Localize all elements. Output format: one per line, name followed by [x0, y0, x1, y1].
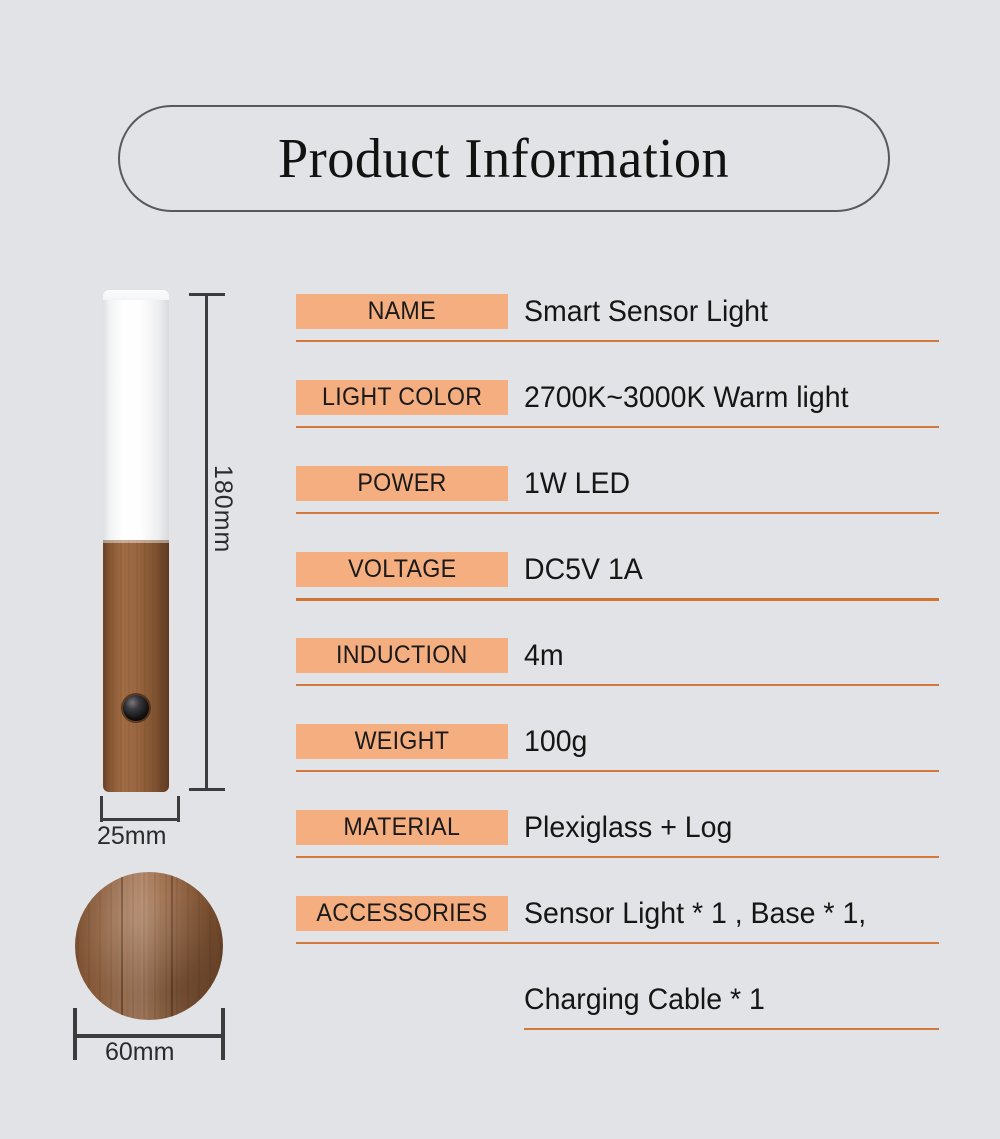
spec-label-chip: MATERIAL	[296, 810, 508, 845]
spec-label-text: POWER	[357, 469, 446, 498]
spec-label-text: ACCESSORIES	[316, 899, 487, 928]
spec-row-divider	[296, 512, 939, 514]
product-image-column: 180mm 25mm 60mm	[0, 280, 285, 1100]
spec-row-accessories: ACCESSORIES Sensor Light * 1 , Base * 1,…	[296, 896, 944, 982]
lamp-diffuser-body	[103, 290, 169, 542]
spec-label-text: WEIGHT	[355, 727, 450, 756]
base-diameter-label: 60mm	[105, 1038, 174, 1067]
spec-row-divider	[296, 340, 939, 342]
lamp-seam-line	[103, 540, 169, 543]
spec-value-text: 4m	[524, 635, 564, 676]
base-shading-overlay	[75, 872, 223, 1020]
spec-row-light-color: LIGHT COLOR 2700K~3000K Warm light	[296, 380, 944, 466]
spec-label-text: VOLTAGE	[348, 555, 456, 584]
spec-row-material: MATERIAL Plexiglass + Log	[296, 810, 944, 896]
specification-table: NAME Smart Sensor Light LIGHT COLOR 2700…	[296, 294, 944, 982]
spec-label-text: LIGHT COLOR	[322, 383, 482, 412]
pir-sensor-icon	[123, 695, 149, 721]
spec-value-text: 100g	[524, 721, 587, 762]
dimension-tick-right	[177, 796, 180, 822]
spec-value-text: 2700K~3000K Warm light	[524, 377, 849, 418]
spec-label-text: INDUCTION	[336, 641, 468, 670]
spec-label-chip: ACCESSORIES	[296, 896, 508, 931]
base-diameter-dimension: 60mm	[73, 1008, 225, 1078]
height-dimension-label: 180mm	[208, 465, 237, 553]
spec-row-divider-last	[524, 1028, 939, 1030]
product-lamp-illustration	[103, 290, 169, 792]
spec-row-induction: INDUCTION 4m	[296, 638, 944, 724]
spec-row-name: NAME Smart Sensor Light	[296, 294, 944, 380]
spec-value-text-line2: Charging Cable * 1	[524, 979, 765, 1020]
lamp-wood-body	[103, 540, 169, 792]
spec-row-divider	[296, 598, 939, 601]
spec-label-text: NAME	[368, 297, 436, 326]
wood-grain-texture	[103, 540, 169, 792]
spec-value-text: 1W LED	[524, 463, 630, 504]
spec-label-chip: WEIGHT	[296, 724, 508, 759]
spec-label-chip: NAME	[296, 294, 508, 329]
spec-row-divider	[296, 684, 939, 686]
spec-value-text: Smart Sensor Light	[524, 291, 768, 332]
lamp-diameter-dimension: 25mm	[100, 796, 180, 864]
lamp-diameter-label: 25mm	[97, 822, 166, 851]
spec-value-text: DC5V 1A	[524, 549, 643, 590]
spec-label-chip: VOLTAGE	[296, 552, 508, 587]
page-title-box: Product Information	[118, 105, 890, 212]
product-base-illustration	[75, 872, 223, 1020]
spec-row-power: POWER 1W LED	[296, 466, 944, 552]
dimension-tick-right	[221, 1008, 225, 1060]
spec-value-text: Plexiglass + Log	[524, 807, 732, 848]
spec-row-weight: WEIGHT 100g	[296, 724, 944, 810]
page-title: Product Information	[278, 127, 729, 191]
spec-row-divider	[296, 856, 939, 858]
spec-row-divider	[296, 942, 939, 944]
spec-row-divider	[296, 770, 939, 772]
spec-row-divider	[296, 426, 939, 428]
dimension-cap-bottom	[189, 788, 225, 791]
height-dimension: 180mm	[186, 293, 226, 791]
spec-label-text: MATERIAL	[344, 813, 461, 842]
spec-label-chip: INDUCTION	[296, 638, 508, 673]
spec-row-voltage: VOLTAGE DC5V 1A	[296, 552, 944, 638]
spec-value-text: Sensor Light * 1 , Base * 1,	[524, 893, 866, 934]
spec-label-chip: POWER	[296, 466, 508, 501]
dimension-line-horizontal	[100, 818, 178, 821]
spec-label-chip: LIGHT COLOR	[296, 380, 508, 415]
